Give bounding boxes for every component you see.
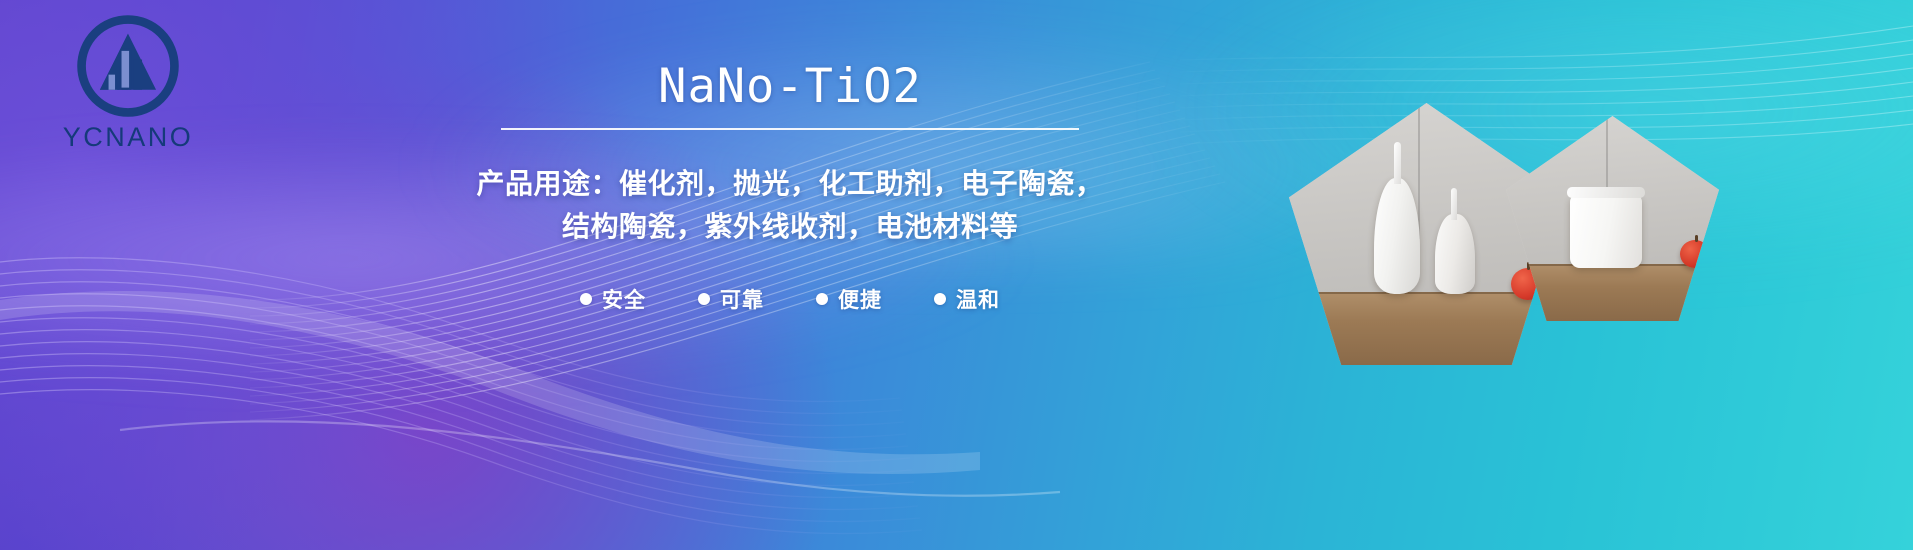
company-logo[interactable]: YCNANO <box>38 12 218 162</box>
brand-name: YCNANO <box>38 122 218 153</box>
product-photos <box>1105 0 1885 550</box>
product-title: NaNo-TiO2 <box>470 60 1110 114</box>
feature-label: 可靠 <box>720 284 764 314</box>
feature-item-reliable: 可靠 <box>698 284 764 314</box>
dot-icon <box>934 293 946 305</box>
feature-list: 安全 可靠 便捷 温和 <box>470 284 1110 314</box>
product-banner: YCNANO NaNo-TiO2 产品用途：催化剂，抛光，化工助剂，电子陶瓷， … <box>0 0 1913 550</box>
mountain-triangle-in-circle-icon <box>74 12 182 120</box>
hero-content: NaNo-TiO2 产品用途：催化剂，抛光，化工助剂，电子陶瓷， 结构陶瓷，紫外… <box>470 60 1110 314</box>
feature-item-safe: 安全 <box>580 284 646 314</box>
description-line-2: 结构陶瓷，紫外线收剂，电池材料等 <box>470 206 1110 249</box>
feature-label: 温和 <box>956 284 1000 314</box>
description-line-1: 产品用途：催化剂，抛光，化工助剂，电子陶瓷， <box>470 163 1110 206</box>
dot-icon <box>580 293 592 305</box>
white-powder-jar-photo <box>1506 116 1719 321</box>
title-divider <box>501 128 1079 130</box>
product-description: 产品用途：催化剂，抛光，化工助剂，电子陶瓷， 结构陶瓷，紫外线收剂，电池材料等 <box>470 163 1110 248</box>
dot-icon <box>698 293 710 305</box>
feature-label: 便捷 <box>838 284 882 314</box>
feature-item-convenient: 便捷 <box>816 284 882 314</box>
dot-icon <box>816 293 828 305</box>
feature-label: 安全 <box>602 284 646 314</box>
feature-item-mild: 温和 <box>934 284 1000 314</box>
